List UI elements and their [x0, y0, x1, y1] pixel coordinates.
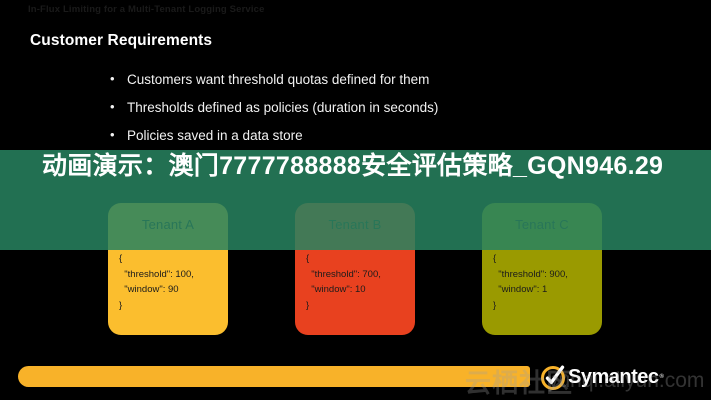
tenant-policy-json: { "threshold": 700, "window": 10 } [306, 251, 381, 314]
list-item: Policies saved in a data store [110, 128, 630, 145]
requirements-bullet-list: Customers want threshold quotas defined … [110, 72, 630, 156]
trademark-symbol: ® [660, 374, 664, 380]
list-item: Thresholds defined as policies (duration… [110, 100, 630, 117]
overlay-heading: 动画演示：澳门7777788888安全评估策略_GQN946.29 [0, 150, 711, 183]
page-title: Customer Requirements [30, 32, 212, 50]
footer-ribbon [18, 366, 530, 387]
footer-ribbon-label: In-Flux Limiting for a Multi-Tenant Logg… [28, 4, 265, 15]
check-circle-icon [540, 364, 566, 390]
tenant-policy-json: { "threshold": 900, "window": 1 } [493, 251, 568, 314]
brand-wordmark: Symantec [568, 367, 659, 387]
slide-screenshot: Customer Requirements Customers want thr… [0, 0, 711, 400]
tenant-policy-json: { "threshold": 100, "window": 90 } [119, 251, 194, 314]
list-item: Customers want threshold quotas defined … [110, 72, 630, 89]
brand-lockup: Symantec ® [540, 364, 664, 390]
